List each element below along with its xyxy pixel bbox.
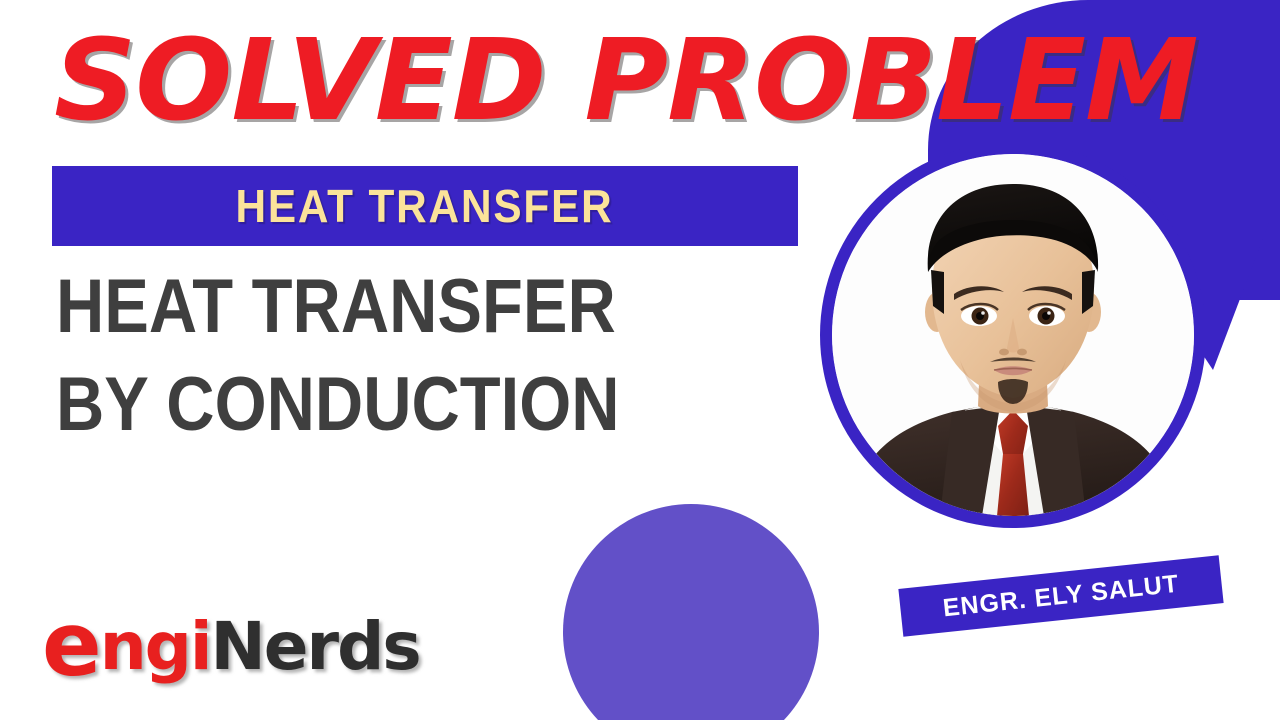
video-thumbnail-slide: SOLVED PROBLEM HEAT TRANSFER HEAT TRANSF… [0, 0, 1280, 720]
decorative-purple-circle [563, 504, 819, 720]
kicker-solved-problem: SOLVED PROBLEM [54, 16, 901, 146]
logo-dark-part: Nerds [211, 608, 420, 685]
presenter-badge: ENGR. ELY SALUT [898, 555, 1223, 636]
logo-red-part: ngi [100, 608, 211, 685]
presenter-portrait-image [832, 154, 1194, 516]
portrait-frame [832, 154, 1194, 516]
presenter-name: ENGR. ELY SALUT [941, 569, 1180, 623]
page-title-line-1: HEAT TRANSFER [56, 258, 725, 356]
page-title-line-2: BY CONDUCTION [56, 356, 725, 454]
subject-banner-label: HEAT TRANSFER [236, 179, 614, 233]
logo-initial-e: e [42, 593, 100, 696]
page-title: HEAT TRANSFER BY CONDUCTION [56, 258, 816, 454]
subject-banner: HEAT TRANSFER [52, 166, 798, 246]
portrait-ring [820, 142, 1206, 528]
enginerds-logo: engiNerds [42, 606, 420, 686]
